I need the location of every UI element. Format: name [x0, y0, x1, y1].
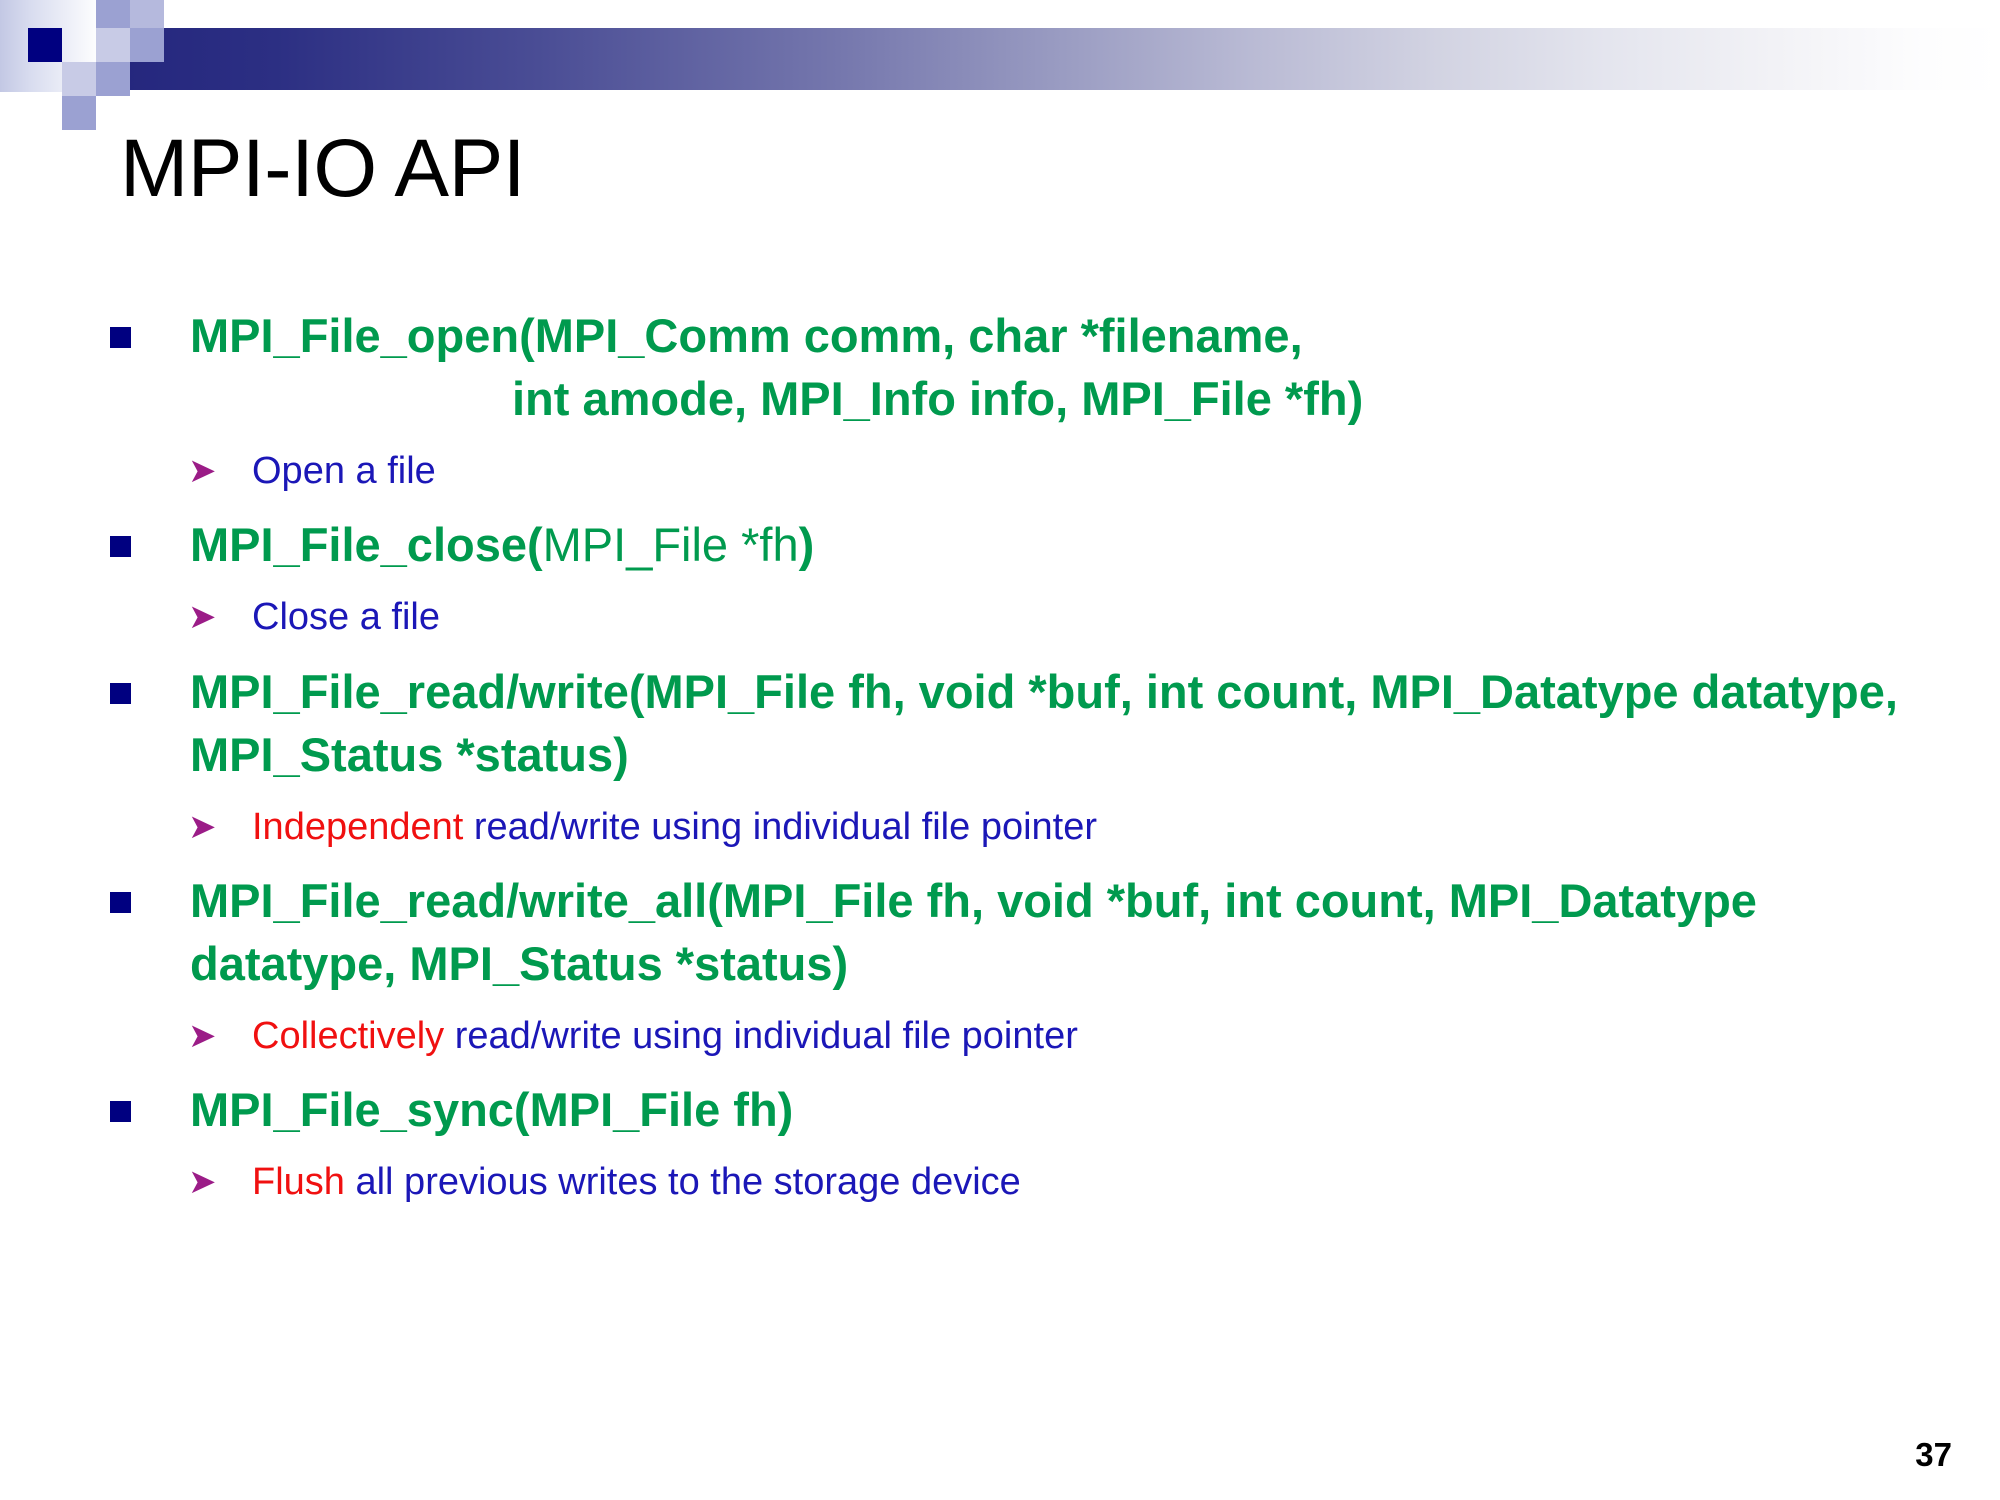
square-bullet-icon	[110, 892, 131, 913]
bullet-text-bold-close: )	[799, 518, 815, 571]
header-gradient-bar	[126, 28, 2000, 90]
square-bullet-icon	[110, 1101, 131, 1122]
subbullet-label: Close a file	[252, 596, 440, 638]
square-light-2	[96, 62, 130, 96]
subbullet-label: read/write using individual file pointer	[444, 1015, 1078, 1057]
square-light-6	[130, 0, 164, 28]
bullet-mpi-file-open: MPI_File_open(MPI_Comm comm, char *filen…	[108, 305, 1948, 431]
page-title: MPI-IO API	[120, 128, 525, 210]
bullet-mpi-file-read-write: MPI_File_read/write(MPI_File fh, void *b…	[108, 661, 1948, 787]
bullet-text-bold-open: MPI_File_close(	[190, 518, 543, 571]
subbullet-highlight: Independent	[252, 806, 463, 848]
subbullet-label: read/write using individual file pointer	[463, 806, 1097, 848]
bullet-text-line2: int amode, MPI_Info info, MPI_File *fh)	[512, 372, 1363, 425]
subbullet-highlight: Flush	[252, 1161, 345, 1203]
arrow-bullet-icon: ➤	[188, 1160, 217, 1204]
square-bullet-icon	[110, 683, 131, 704]
slide-header-decoration	[0, 0, 2000, 130]
square-light-3	[96, 28, 130, 62]
page-number: 37	[1915, 1436, 1952, 1474]
square-light-4	[130, 28, 164, 62]
subbullet-independent-read-write: ➤Independent read/write using individual…	[108, 803, 1948, 852]
arrow-bullet-icon: ➤	[188, 595, 217, 639]
bullet-mpi-file-read-write-all: MPI_File_read/write_all(MPI_File fh, voi…	[108, 870, 1948, 996]
bullet-text: MPI_File_read/write_all(MPI_File fh, voi…	[190, 874, 1757, 990]
subbullet-collectively-read-write: ➤Collectively read/write using individua…	[108, 1012, 1948, 1061]
bullet-text-regular-args: MPI_File *fh	[543, 518, 799, 571]
bullet-text-line1: MPI_File_open(MPI_Comm comm, char *filen…	[190, 309, 1303, 362]
slide-body: MPI_File_open(MPI_Comm comm, char *filen…	[108, 305, 1948, 1210]
square-light-7	[62, 96, 96, 130]
square-bullet-icon	[110, 536, 131, 557]
bullet-mpi-file-close: MPI_File_close(MPI_File *fh)	[108, 514, 1948, 577]
arrow-bullet-icon: ➤	[188, 1014, 217, 1058]
subbullet-open-a-file: ➤ Open a file	[108, 447, 1948, 496]
subbullet-label: all previous writes to the storage devic…	[345, 1161, 1021, 1203]
subbullet-flush-writes: ➤Flush all previous writes to the storag…	[108, 1158, 1948, 1207]
bullet-mpi-file-sync: MPI_File_sync(MPI_File fh)	[108, 1079, 1948, 1142]
arrow-bullet-icon: ➤	[188, 805, 217, 849]
square-bullet-icon	[110, 327, 131, 348]
square-navy-solid	[28, 28, 62, 62]
bullet-text: MPI_File_read/write(MPI_File fh, void *b…	[190, 665, 1898, 781]
arrow-bullet-icon: ➤	[188, 449, 217, 493]
square-light-5	[96, 0, 130, 28]
square-light-1	[62, 62, 96, 96]
subbullet-label: Open a file	[252, 450, 436, 492]
bullet-text: MPI_File_sync(MPI_File fh)	[190, 1083, 793, 1136]
subbullet-highlight: Collectively	[252, 1015, 444, 1057]
subbullet-close-a-file: ➤ Close a file	[108, 593, 1948, 642]
